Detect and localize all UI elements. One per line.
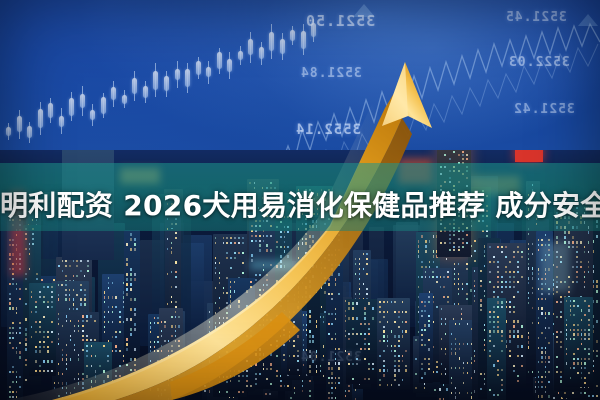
window-light <box>58 323 60 325</box>
window-light <box>95 380 97 382</box>
window-light <box>16 396 18 398</box>
window-light <box>331 298 333 300</box>
ticker-value-1: 3521.50 <box>305 12 375 30</box>
window-light <box>359 258 361 260</box>
window-light <box>588 324 590 326</box>
window-light <box>9 342 11 344</box>
window-light <box>484 250 486 252</box>
window-light <box>303 344 305 346</box>
window-light <box>54 387 56 389</box>
window-light <box>16 391 18 393</box>
window-light <box>328 293 330 295</box>
window-light <box>95 355 97 357</box>
window-light <box>424 305 426 307</box>
window-light <box>451 343 453 345</box>
window-light <box>484 344 486 346</box>
window-light <box>584 251 586 253</box>
window-light <box>51 321 53 323</box>
window-light <box>581 377 583 379</box>
window-light <box>368 363 370 365</box>
window-light <box>41 279 43 281</box>
window-light <box>458 278 460 280</box>
window-light <box>331 273 333 275</box>
window-light <box>312 265 314 267</box>
window-light <box>9 327 11 329</box>
window-light <box>115 336 117 338</box>
window-light <box>263 289 265 291</box>
window-light <box>459 343 461 345</box>
window-light <box>161 321 163 323</box>
window-light <box>338 293 340 295</box>
window-light <box>171 325 173 327</box>
window-light <box>335 308 337 310</box>
window-light <box>298 272 300 274</box>
window-light <box>303 339 305 341</box>
window-light <box>112 296 114 298</box>
window-light <box>58 372 60 374</box>
window-light <box>47 350 49 352</box>
window-light <box>596 285 598 287</box>
window-light <box>588 329 590 331</box>
window-light <box>294 387 296 389</box>
window-light <box>82 349 84 351</box>
window-light <box>573 353 575 355</box>
window-light <box>480 280 482 282</box>
window-light <box>538 244 540 246</box>
window-light <box>338 273 340 275</box>
window-light <box>538 317 540 319</box>
window-light <box>538 381 540 383</box>
window-light <box>528 263 530 265</box>
window-light <box>446 258 448 260</box>
window-light <box>328 392 330 394</box>
window-light <box>80 284 82 286</box>
window-light <box>338 234 340 236</box>
window-light <box>58 313 60 315</box>
candle-body <box>248 39 253 55</box>
window-light <box>19 351 21 353</box>
window-light <box>19 298 21 300</box>
window-light <box>348 317 350 319</box>
window-light <box>596 235 598 237</box>
window-light <box>541 307 543 309</box>
window-light <box>47 360 49 362</box>
window-light <box>134 379 136 381</box>
window-light <box>95 375 97 377</box>
window-light <box>283 319 285 321</box>
window-light <box>62 325 64 327</box>
window-light <box>263 235 265 237</box>
window-light <box>541 351 543 353</box>
window-light <box>293 326 295 328</box>
window-light <box>25 379 27 381</box>
window-light <box>276 340 278 342</box>
window-light <box>270 289 272 291</box>
window-light <box>175 335 177 337</box>
window-light <box>328 259 330 261</box>
window-light <box>436 306 438 308</box>
window-light <box>348 307 350 309</box>
window-light <box>596 350 598 352</box>
window-light <box>178 374 180 376</box>
window-light <box>91 380 93 382</box>
window-light <box>545 361 547 363</box>
window-light <box>134 308 136 310</box>
window-light <box>545 234 547 236</box>
window-light <box>352 328 354 330</box>
window-light <box>584 300 586 302</box>
window-light <box>331 367 333 369</box>
window-light <box>584 333 586 335</box>
window-light <box>359 273 361 275</box>
building <box>159 308 183 400</box>
window-light <box>74 349 76 351</box>
window-light <box>43 336 45 338</box>
window-light <box>43 286 45 288</box>
window-light <box>12 347 14 349</box>
window-light <box>548 342 550 344</box>
window-light <box>484 383 486 385</box>
window-light <box>528 243 530 245</box>
window-light <box>25 278 27 280</box>
window-light <box>126 318 128 320</box>
window-light <box>66 354 68 356</box>
window-light <box>259 244 261 246</box>
window-light <box>366 273 368 275</box>
window-light <box>293 345 295 347</box>
window-light <box>126 273 128 275</box>
window-light <box>355 263 357 265</box>
window-light <box>302 296 304 298</box>
window-light <box>171 374 173 376</box>
window-light <box>356 343 358 345</box>
window-light <box>266 279 268 281</box>
window-light <box>528 336 530 338</box>
window-light <box>82 387 84 389</box>
window-light <box>263 284 265 286</box>
window-light <box>150 341 152 343</box>
window-light <box>178 345 180 347</box>
window-light <box>548 327 550 329</box>
window-light <box>584 367 586 369</box>
window-light <box>463 362 465 364</box>
window-light <box>289 355 291 357</box>
window-light <box>424 372 426 374</box>
window-light <box>463 343 465 345</box>
window-light <box>9 283 11 285</box>
window-light <box>596 395 598 397</box>
window-light <box>302 272 304 274</box>
window-light <box>19 356 21 358</box>
window-light <box>35 306 37 308</box>
window-light <box>321 272 323 274</box>
window-light <box>104 291 106 293</box>
window-light <box>150 346 152 348</box>
window-light <box>298 257 300 259</box>
window-light <box>545 391 547 393</box>
window-light <box>486 235 488 237</box>
window-light <box>355 389 357 391</box>
window-light <box>538 273 540 275</box>
window-light <box>287 246 289 248</box>
window-light <box>328 377 330 379</box>
window-light <box>58 343 60 345</box>
window-light <box>335 278 337 280</box>
window-light <box>289 335 291 337</box>
window-light <box>280 380 282 382</box>
window-light <box>168 364 170 366</box>
window-light <box>366 293 368 295</box>
window-light <box>331 397 333 399</box>
window-light <box>58 333 60 335</box>
window-light <box>126 243 128 245</box>
window-light <box>355 273 357 275</box>
window-light <box>25 359 27 361</box>
window-light <box>115 296 117 298</box>
building <box>29 283 56 376</box>
window-light <box>119 331 121 333</box>
window-light <box>178 325 180 327</box>
window-light <box>171 335 173 337</box>
window-light <box>51 331 53 333</box>
window-light <box>99 365 101 367</box>
candle-body <box>153 71 158 90</box>
window-light <box>553 397 555 399</box>
window-light <box>130 308 132 310</box>
window-light <box>455 396 457 398</box>
window-light <box>31 296 33 298</box>
window-light <box>451 377 453 379</box>
window-light <box>171 379 173 381</box>
window-light <box>171 355 173 357</box>
window-light <box>35 311 37 313</box>
window-light <box>80 298 82 300</box>
window-light <box>266 319 268 321</box>
window-light <box>51 286 53 288</box>
window-light <box>70 335 72 337</box>
window-light <box>484 373 486 375</box>
window-light <box>82 382 84 384</box>
window-light <box>445 323 447 325</box>
window-light <box>287 300 289 302</box>
window-light <box>364 343 366 345</box>
window-light <box>328 323 330 325</box>
window-light <box>588 271 590 273</box>
candle-body <box>164 76 169 91</box>
window-light <box>302 238 304 240</box>
candle-body <box>132 78 137 94</box>
window-light <box>35 331 37 333</box>
window-light <box>289 321 291 323</box>
window-light <box>39 326 41 328</box>
window-light <box>451 392 453 394</box>
window-light <box>12 371 14 373</box>
window-light <box>424 387 426 389</box>
window-light <box>130 318 132 320</box>
window-light <box>461 313 463 315</box>
window-light <box>570 367 572 369</box>
window-light <box>82 320 84 322</box>
window-light <box>58 338 60 340</box>
window-light <box>541 386 543 388</box>
window-light <box>263 309 265 311</box>
window-light <box>596 300 598 302</box>
window-light <box>528 253 530 255</box>
window-light <box>76 265 78 267</box>
window-light <box>312 240 314 242</box>
window-light <box>103 380 105 382</box>
window-light <box>82 335 84 337</box>
window-light <box>84 289 86 291</box>
window-light <box>584 314 586 316</box>
window-light <box>76 308 78 310</box>
window-light <box>280 290 282 292</box>
window-light <box>421 344 423 346</box>
window-light <box>175 271 177 273</box>
window-light <box>294 392 296 394</box>
window-light <box>119 311 121 313</box>
window-light <box>458 263 460 265</box>
window-light <box>9 386 11 388</box>
window-light <box>270 249 272 251</box>
window-light <box>588 319 590 321</box>
window-light <box>302 257 304 259</box>
window-light <box>276 375 278 377</box>
window-light <box>532 267 534 269</box>
window-light <box>581 338 583 340</box>
window-light <box>364 317 366 319</box>
window-light <box>255 299 257 301</box>
window-light <box>108 287 110 289</box>
window-light <box>119 321 121 323</box>
window-light <box>474 240 476 242</box>
window-light <box>36 273 38 275</box>
window-light <box>284 236 286 238</box>
window-light <box>84 275 86 277</box>
window-light <box>82 397 84 399</box>
window-light <box>424 358 426 360</box>
window-light <box>538 337 540 339</box>
window-light <box>436 366 438 368</box>
window-light <box>454 268 456 270</box>
window-light <box>283 329 285 331</box>
window-light <box>328 333 330 335</box>
window-light <box>47 370 49 372</box>
window-light <box>467 362 469 364</box>
window-light <box>560 296 562 298</box>
window-light <box>434 389 436 391</box>
window-light <box>25 318 27 320</box>
window-light <box>284 385 286 387</box>
window-light <box>484 349 486 351</box>
window-light <box>458 273 460 275</box>
window-light <box>528 346 530 348</box>
window-light <box>35 360 37 362</box>
window-light <box>309 315 311 317</box>
window-light <box>266 244 268 246</box>
window-light <box>25 364 27 366</box>
window-light <box>126 288 128 290</box>
window-light <box>451 348 453 350</box>
window-light <box>16 307 18 309</box>
window-light <box>266 294 268 296</box>
window-light <box>328 249 330 251</box>
window-light <box>584 348 586 350</box>
window-light <box>39 350 41 352</box>
window-light <box>418 276 420 278</box>
window-light <box>359 278 361 280</box>
window-light <box>451 367 453 369</box>
window-light <box>54 382 56 384</box>
window-light <box>91 386 93 388</box>
window-light <box>352 302 354 304</box>
window-light <box>335 254 337 256</box>
window-light <box>580 261 582 263</box>
window-light <box>154 322 156 324</box>
window-light <box>134 328 136 330</box>
window-light <box>528 282 530 284</box>
window-light <box>276 355 278 357</box>
window-light <box>323 375 325 377</box>
window-light <box>126 348 128 350</box>
window-light <box>596 355 598 357</box>
candle-body <box>48 103 53 118</box>
building <box>84 342 112 400</box>
window-light <box>545 366 547 368</box>
window-light <box>255 240 257 242</box>
window-light <box>280 300 282 302</box>
window-light <box>289 369 291 371</box>
window-light <box>538 322 540 324</box>
window-light <box>474 250 476 252</box>
window-light <box>573 324 575 326</box>
window-light <box>259 294 261 296</box>
window-light <box>51 306 53 308</box>
window-light <box>303 314 305 316</box>
window-light <box>364 333 366 335</box>
window-light <box>82 373 84 375</box>
window-light <box>577 324 579 326</box>
window-light <box>428 296 430 298</box>
window-light <box>9 391 11 393</box>
window-light <box>572 236 574 238</box>
window-light <box>421 310 423 312</box>
window-light <box>51 370 53 372</box>
window-light <box>596 280 598 282</box>
window-light <box>209 360 211 362</box>
window-light <box>284 295 286 297</box>
window-light <box>356 317 358 319</box>
candle-body <box>101 97 106 114</box>
window-light <box>209 321 211 323</box>
window-light <box>335 313 337 315</box>
window-light <box>372 368 374 370</box>
window-light <box>335 283 337 285</box>
window-light <box>588 305 590 307</box>
window-light <box>130 288 132 290</box>
window-light <box>528 371 530 373</box>
window-light <box>570 338 572 340</box>
window-light <box>538 376 540 378</box>
window-light <box>335 333 337 335</box>
window-light <box>581 358 583 360</box>
window-light <box>66 392 68 394</box>
window-light <box>209 365 211 367</box>
window-light <box>66 382 68 384</box>
window-light <box>588 333 590 335</box>
window-light <box>175 311 177 313</box>
window-light <box>78 373 80 375</box>
